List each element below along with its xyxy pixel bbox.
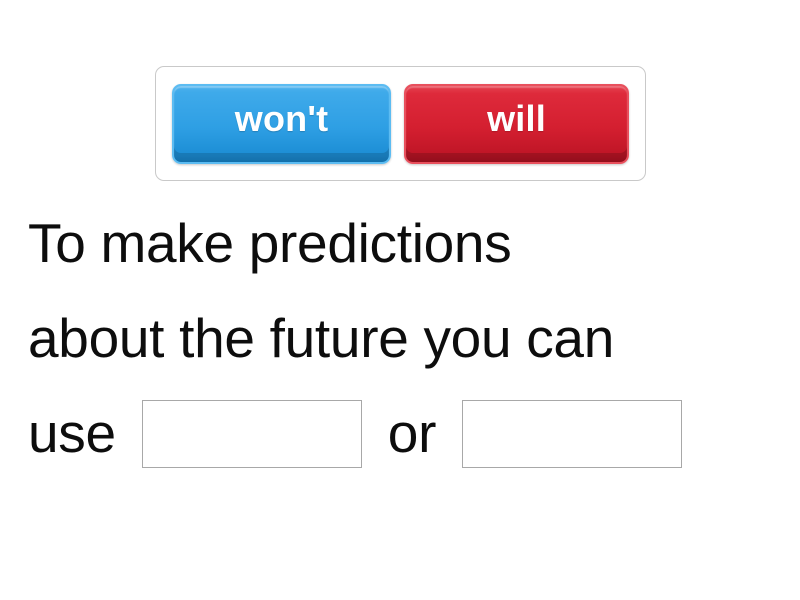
draggable-tile-wont[interactable]: won't [172, 84, 391, 164]
drop-zone-2[interactable] [462, 400, 682, 468]
prompt-text: To make predictions about the future you… [28, 196, 776, 481]
prompt-word-use: use [28, 386, 116, 481]
tile-label: will [487, 101, 546, 137]
drop-zone-1[interactable] [142, 400, 362, 468]
prompt-word-or: or [388, 386, 436, 481]
word-bank-container: won't will [155, 66, 646, 181]
prompt-line-3: use or [28, 386, 776, 481]
prompt-line-1: To make predictions [28, 196, 776, 291]
prompt-line-2: about the future you can [28, 291, 776, 386]
draggable-tile-will[interactable]: will [404, 84, 629, 164]
tile-label: won't [235, 101, 329, 137]
